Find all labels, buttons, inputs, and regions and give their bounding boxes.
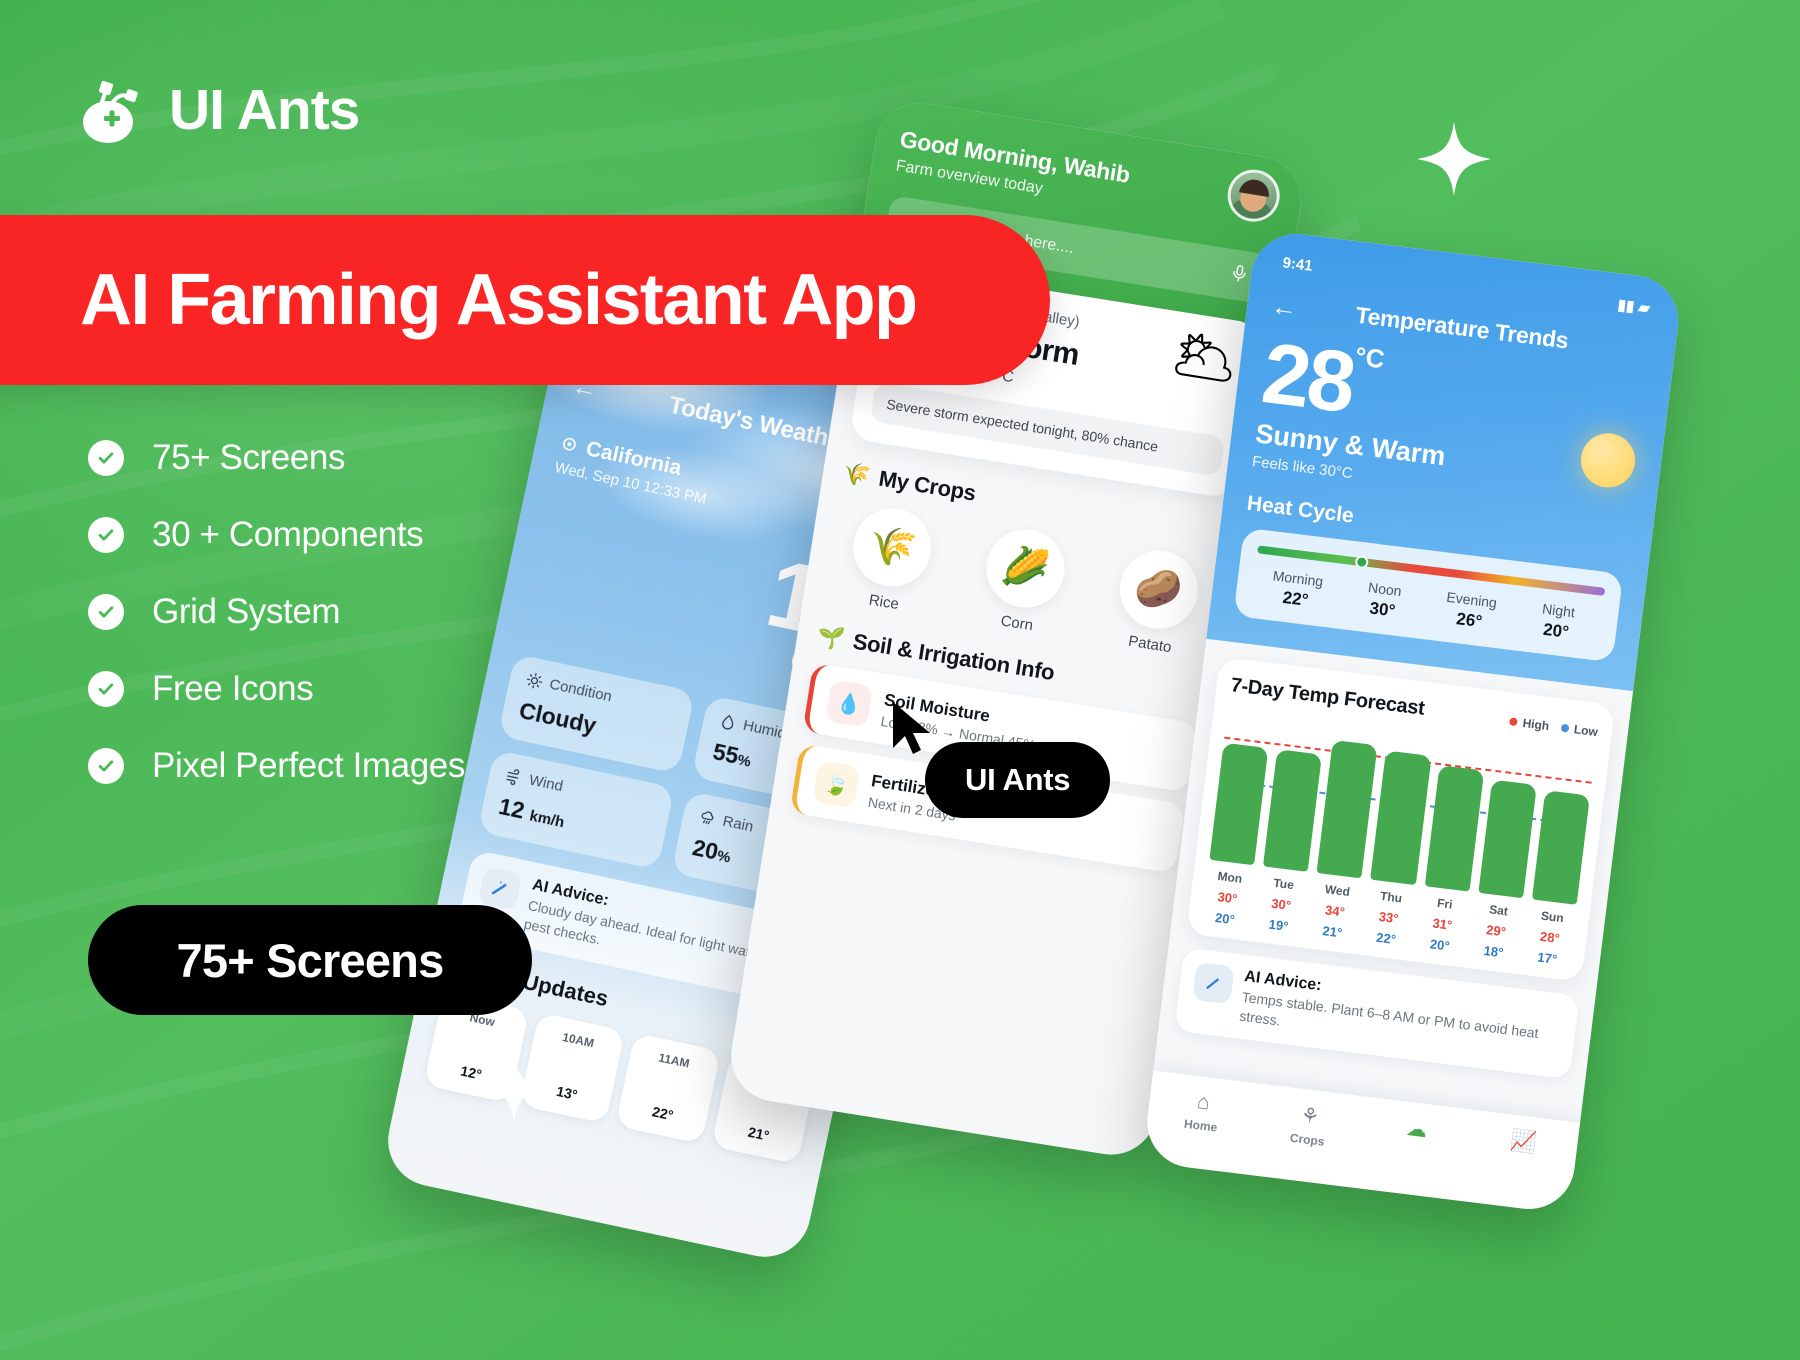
- check-circle-icon: [88, 594, 124, 630]
- feature-item: Grid System: [88, 592, 465, 632]
- crop-item[interactable]: 🥔 Patato: [1089, 542, 1224, 663]
- trend-up-icon: 📈: [1469, 1124, 1579, 1161]
- feature-label: 75+ Screens: [152, 438, 345, 478]
- screens-count-pill: 75+ Screens: [88, 905, 532, 1015]
- chart-bar: [1532, 790, 1590, 905]
- leaf-icon: 🍃: [812, 761, 860, 809]
- heat-cycle-values: Morning 22° Noon 30° Evening 26° Night 2…: [1251, 565, 1603, 646]
- metric-unit: %: [736, 752, 753, 771]
- metric-value: Cloudy: [517, 697, 599, 739]
- sparkle-icon: [1415, 120, 1493, 203]
- check-circle-icon: [88, 440, 124, 476]
- rain-cloud-icon: [698, 808, 718, 828]
- brand-name: UI Ants: [169, 82, 359, 139]
- mouse-cursor-icon: [890, 700, 936, 761]
- chart-low-label: 19°: [1255, 915, 1302, 935]
- crop-emoji: 🌽: [981, 524, 1070, 613]
- cloud-icon: ☁: [1362, 1111, 1472, 1149]
- sun-icon: [524, 671, 544, 691]
- storm-cloud-icon: 🌥: [1167, 321, 1245, 394]
- status-time: 9:41: [1282, 254, 1314, 276]
- map-pin-icon: [558, 434, 581, 457]
- my-crops-title: My Crops: [877, 466, 978, 507]
- feature-item: 75+ Screens: [88, 438, 465, 478]
- check-circle-icon: [88, 517, 124, 553]
- sparkle-icon: [478, 1052, 550, 1129]
- crop-name: Patato: [1089, 627, 1211, 663]
- chart-x-label: Wed: [1314, 881, 1361, 900]
- legend-label: Low: [1573, 722, 1599, 739]
- heat-cycle-item: Morning 22°: [1251, 565, 1343, 614]
- temp-forecast-chart: 7-Day Temp Forecast High Low MonTueWedTh…: [1186, 657, 1615, 982]
- chart-low-label: 22°: [1363, 928, 1410, 948]
- metric-label: Rain: [721, 813, 755, 836]
- heat-cycle-item: Noon 30°: [1338, 576, 1430, 625]
- heat-cycle-item: Night 20°: [1511, 597, 1603, 646]
- feature-item: 30 + Components: [88, 515, 465, 555]
- tab-crops[interactable]: ⚘ Crops: [1253, 1097, 1365, 1153]
- chart-x-label: Thu: [1368, 888, 1415, 907]
- hourly-cell[interactable]: 11AM 🌧 22°: [615, 1033, 721, 1144]
- back-icon[interactable]: ←: [1270, 292, 1299, 321]
- status-icons: ▮▮ ▰: [1617, 295, 1651, 317]
- ant-logo-icon: [75, 72, 151, 148]
- chart-legend: High Low: [1509, 714, 1599, 739]
- chart-low-label: 17°: [1524, 948, 1571, 968]
- feature-label: Pixel Perfect Images: [152, 746, 465, 786]
- feature-item: Pixel Perfect Images: [88, 746, 465, 786]
- sprout-icon: 🌱: [815, 623, 846, 653]
- metric-label: Condition: [548, 676, 614, 706]
- chart-x-label: Fri: [1422, 894, 1469, 913]
- droplet-icon: 💧: [825, 680, 873, 728]
- trends-header: 9:41 ▮▮ ▰ ← Temperature Trends 28°C Sunn…: [1206, 229, 1683, 691]
- chart-high-label: 28°: [1527, 927, 1574, 947]
- brand-logo: UI Ants: [75, 72, 359, 148]
- feature-label: Free Icons: [152, 669, 313, 709]
- feature-label: Grid System: [152, 592, 340, 632]
- chart-x-label: Tue: [1260, 874, 1307, 893]
- check-circle-icon: [88, 671, 124, 707]
- chart-bar: [1371, 750, 1432, 885]
- heat-cycle-item: Evening 26°: [1425, 587, 1517, 636]
- headline-banner: AI Farming Assistant App: [0, 215, 1050, 385]
- crop-item[interactable]: 🌽 Corn: [956, 521, 1091, 642]
- ui-ants-tooltip: UI Ants: [925, 742, 1110, 818]
- crop-item[interactable]: 🌾 Rice: [823, 500, 958, 621]
- legend-item-high: High: [1509, 714, 1550, 733]
- temperature-unit: °C: [1354, 341, 1387, 374]
- chart-high-label: 33°: [1365, 907, 1412, 927]
- feature-label: 30 + Components: [152, 515, 423, 555]
- tab-trends[interactable]: 📈: [1468, 1124, 1578, 1165]
- microphone-icon[interactable]: [1227, 261, 1251, 289]
- metric-label: Wind: [527, 772, 564, 796]
- chart-high-label: 29°: [1473, 921, 1520, 941]
- legend-item-low: Low: [1560, 721, 1598, 739]
- headline-title: AI Farming Assistant App: [80, 259, 916, 341]
- crop-emoji: 🥔: [1114, 545, 1203, 634]
- chart-bar: [1424, 765, 1484, 892]
- feature-item: Free Icons: [88, 669, 465, 709]
- chart-low-label: 20°: [1416, 935, 1463, 955]
- tab-weather[interactable]: ☁: [1361, 1111, 1471, 1153]
- metric-unit: km/h: [528, 808, 566, 832]
- chart-high-label: 31°: [1419, 914, 1466, 934]
- metric-value: 12: [496, 793, 526, 824]
- chart-low-label: 21°: [1309, 922, 1356, 942]
- chart-x-label: Sat: [1475, 901, 1522, 920]
- metric-card-wind[interactable]: Wind 12 km/h: [477, 750, 674, 870]
- metric-unit: %: [715, 848, 732, 867]
- chart-low-label: 18°: [1470, 941, 1517, 961]
- temperature-value: 28: [1257, 325, 1358, 431]
- legend-label: High: [1522, 716, 1550, 733]
- chart-bar: [1263, 749, 1322, 872]
- chart-high-label: 30°: [1258, 894, 1305, 914]
- chart-bar: [1317, 740, 1378, 879]
- crop-name: Corn: [956, 606, 1078, 642]
- magic-wand-icon: [1192, 962, 1234, 1004]
- feature-list: 75+ Screens 30 + Components Grid System …: [88, 438, 465, 786]
- check-circle-icon: [88, 748, 124, 784]
- crop-emoji: 🌾: [848, 503, 937, 592]
- chart-high-label: 30°: [1204, 888, 1251, 908]
- promo-canvas: UI Ants AI Farming Assistant App 75+ Scr…: [0, 0, 1800, 1360]
- droplet-icon: [718, 712, 738, 732]
- chart-bar: [1478, 779, 1537, 898]
- heat-cycle-knob[interactable]: [1355, 555, 1369, 569]
- chart-bar: [1209, 742, 1268, 865]
- chart-low-label: 20°: [1202, 908, 1249, 928]
- chart-high-label: 34°: [1312, 901, 1359, 921]
- crop-name: Rice: [823, 584, 945, 620]
- chart-x-label: Sun: [1529, 907, 1576, 926]
- chart-x-label: Mon: [1207, 868, 1254, 887]
- tab-home[interactable]: ⌂ Home: [1146, 1084, 1258, 1139]
- wind-icon: [504, 767, 524, 787]
- wheat-icon: 🌾: [841, 460, 872, 490]
